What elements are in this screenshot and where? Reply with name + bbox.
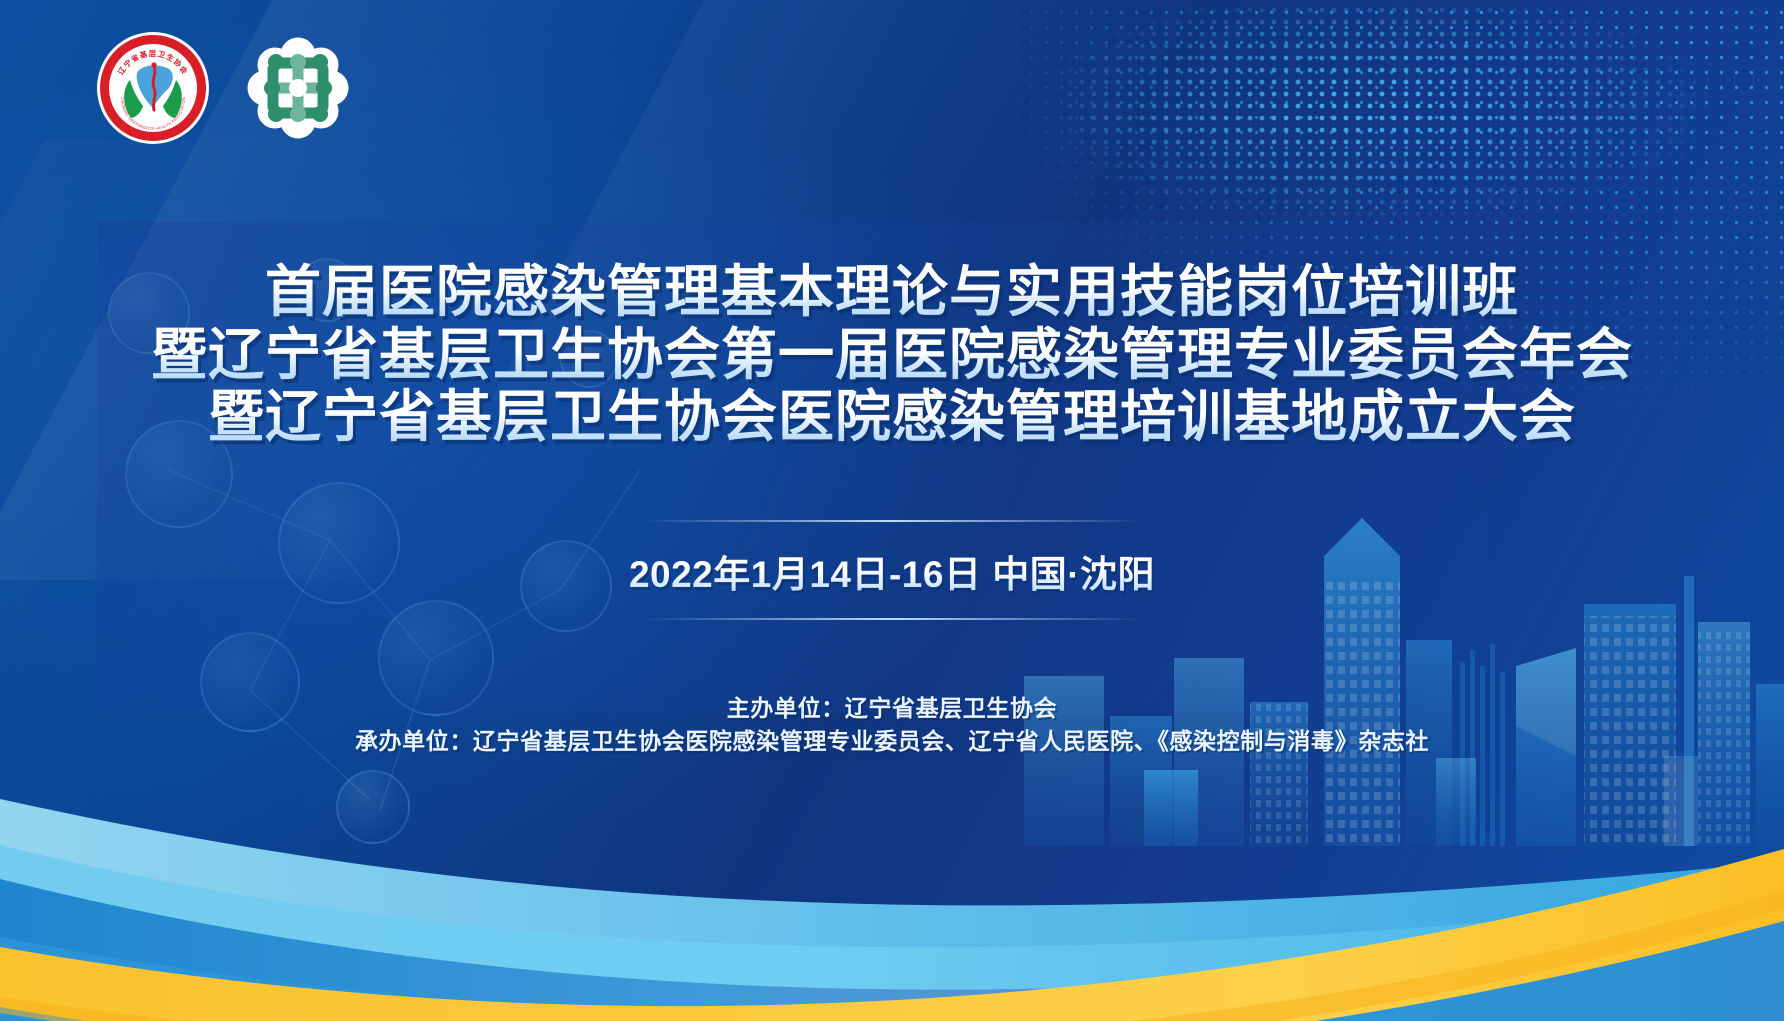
logo-group: 辽宁省基层卫生协会 LIAONING GRASSROOTS HEALTH ASS…	[97, 32, 353, 144]
bottom-wave-decoration	[0, 741, 1784, 1021]
date-location-text: 2022年1月14日-16日 中国·沈阳	[629, 544, 1155, 598]
title-line-1: 首届医院感染管理基本理论与实用技能岗位培训班	[0, 262, 1784, 325]
title-line-2: 暨辽宁省基层卫生协会第一届医院感染管理专业委员会年会	[0, 325, 1784, 388]
flower-logo-icon	[243, 33, 353, 143]
halftone-dot-ridge	[1064, 0, 1784, 220]
organizer-block: 主办单位：辽宁省基层卫生协会 承办单位：辽宁省基层卫生协会医院感染管理专业委员会…	[0, 692, 1784, 759]
title-line-3: 暨辽宁省基层卫生协会医院感染管理培训基地成立大会	[0, 387, 1784, 450]
title-block: 首届医院感染管理基本理论与实用技能岗位培训班 暨辽宁省基层卫生协会第一届医院感染…	[0, 262, 1784, 450]
association-logo-icon: 辽宁省基层卫生协会 LIAONING GRASSROOTS HEALTH ASS…	[97, 32, 209, 144]
date-location-block: 2022年1月14日-16日 中国·沈阳	[0, 520, 1784, 620]
co-organizers: 承办单位：辽宁省基层卫生协会医院感染管理专业委员会、辽宁省人民医院、《感染控制与…	[0, 725, 1784, 758]
host-organization: 主办单位：辽宁省基层卫生协会	[0, 692, 1784, 725]
date-rule-bottom	[643, 618, 1141, 620]
logo-red-ring	[102, 37, 204, 139]
conference-banner: 辽宁省基层卫生协会 LIAONING GRASSROOTS HEALTH ASS…	[0, 0, 1784, 1021]
date-rule-top	[643, 520, 1141, 522]
